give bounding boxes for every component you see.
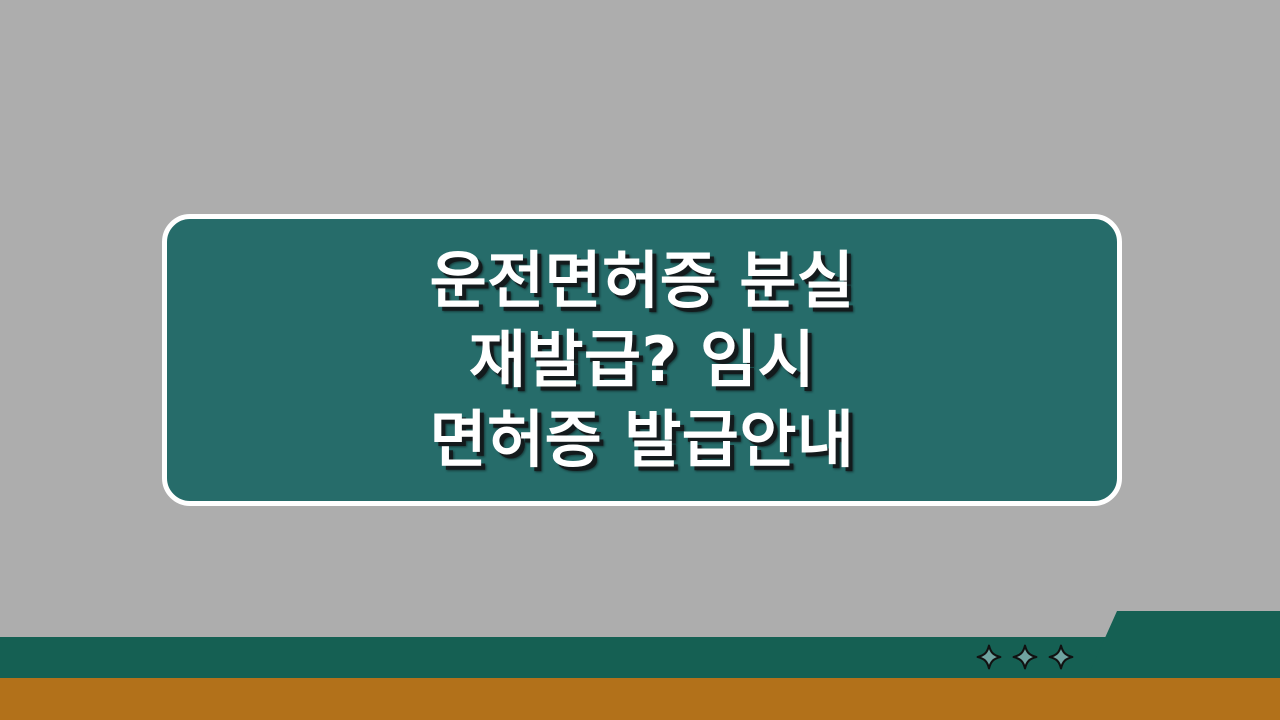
slide-canvas: 운전면허증 분실 재발급? 임시 면허증 발급안내 — [0, 0, 1280, 720]
sparkle-diamond-icon — [1047, 643, 1075, 671]
title-card: 운전면허증 분실 재발급? 임시 면허증 발급안내 — [162, 214, 1122, 506]
sparkle-diamond-icon — [1011, 643, 1039, 671]
footer-band — [0, 637, 1280, 678]
sparkle-diamond-icon — [975, 643, 1003, 671]
footer-accent-bar — [0, 678, 1280, 720]
sparkle-group — [975, 640, 1075, 674]
page-title: 운전면허증 분실 재발급? 임시 면허증 발급안내 — [406, 241, 879, 479]
